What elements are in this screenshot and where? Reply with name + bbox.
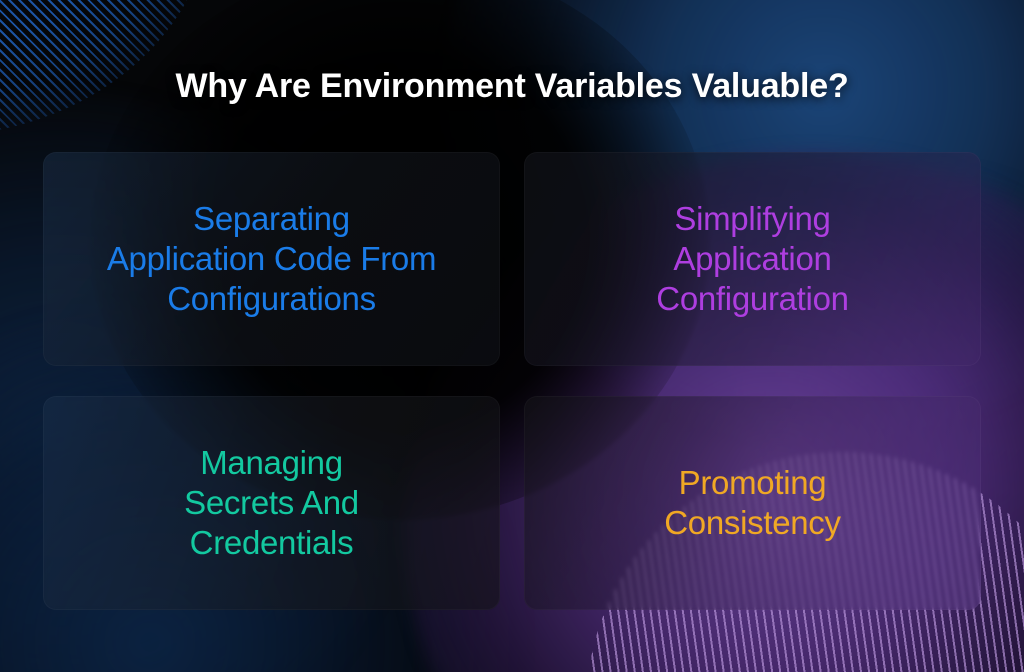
benefits-grid: Separating Application Code From Configu… bbox=[43, 152, 981, 610]
page-title: Why Are Environment Variables Valuable? bbox=[0, 64, 1024, 108]
card-simplifying-application-configuration[interactable]: Simplifying Application Configuration bbox=[524, 152, 981, 366]
card-promoting-consistency[interactable]: Promoting Consistency bbox=[524, 396, 981, 610]
slide-canvas: Why Are Environment Variables Valuable? … bbox=[0, 0, 1024, 672]
card-label: Promoting Consistency bbox=[664, 463, 840, 543]
card-separating-application-code-from-configurations[interactable]: Separating Application Code From Configu… bbox=[43, 152, 500, 366]
card-label: Separating Application Code From Configu… bbox=[107, 199, 436, 319]
card-managing-secrets-and-credentials[interactable]: Managing Secrets And Credentials bbox=[43, 396, 500, 610]
card-label: Simplifying Application Configuration bbox=[656, 199, 848, 319]
card-label: Managing Secrets And Credentials bbox=[184, 443, 359, 563]
